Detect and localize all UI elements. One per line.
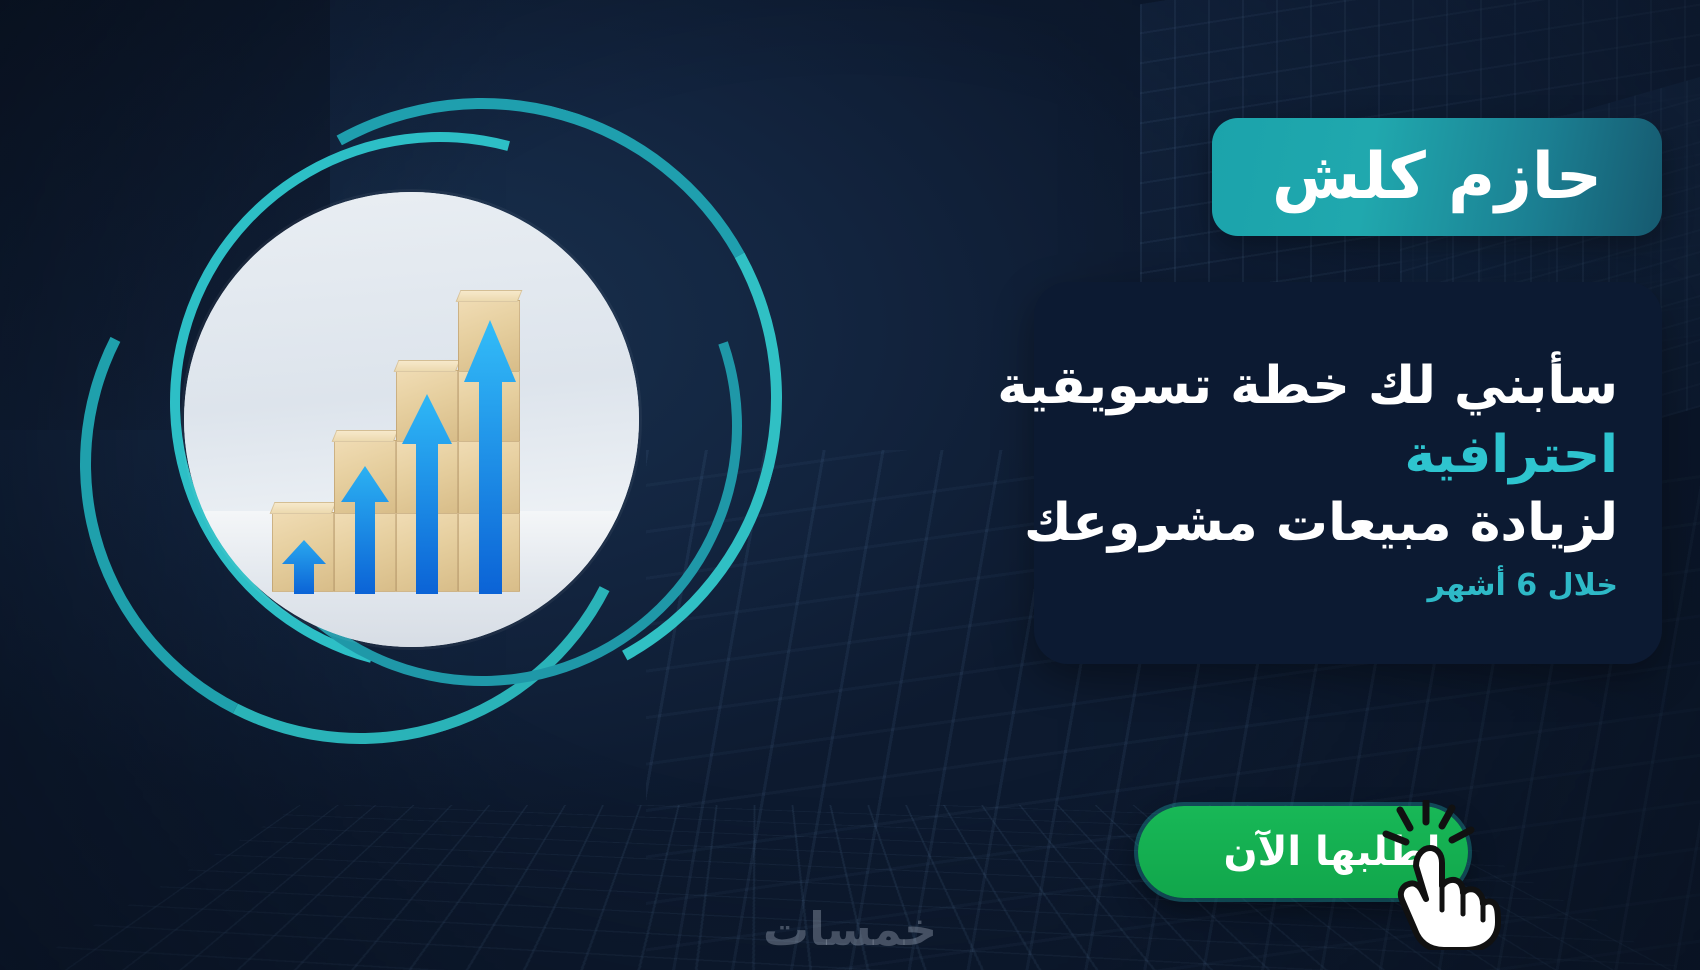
arrow-up-icon [339, 464, 391, 594]
wooden-blocks-group [184, 192, 639, 647]
arrow-up-icon [280, 538, 328, 594]
offer-description-card: سأبني لك خطة تسويقية احترافية لزيادة مبي… [1034, 282, 1662, 664]
arrow-up-icon [462, 318, 518, 594]
order-now-button[interactable]: اطلبها الآن [1138, 806, 1468, 898]
hero-photo [184, 192, 639, 647]
banner-canvas: حازم كلش سأبني لك خطة تسويقية احترافية ل… [0, 0, 1700, 970]
hero-graphic [62, 80, 752, 760]
arrow-up-icon [400, 392, 454, 594]
provider-name-banner: حازم كلش [1212, 118, 1662, 236]
site-watermark: خمسات [763, 902, 937, 956]
offer-headline-accent: احترافية [1078, 421, 1618, 490]
provider-name: حازم كلش [1272, 145, 1602, 209]
offer-headline-line-1: سأبني لك خطة تسويقية [1078, 352, 1618, 421]
offer-headline-line-3: لزيادة مبيعات مشروعك [1078, 489, 1618, 558]
cta-area: اطلبها الآن [1138, 806, 1468, 898]
order-now-label: اطلبها الآن [1165, 829, 1440, 875]
offer-timeframe: خلال 6 أشهر [1078, 568, 1618, 604]
